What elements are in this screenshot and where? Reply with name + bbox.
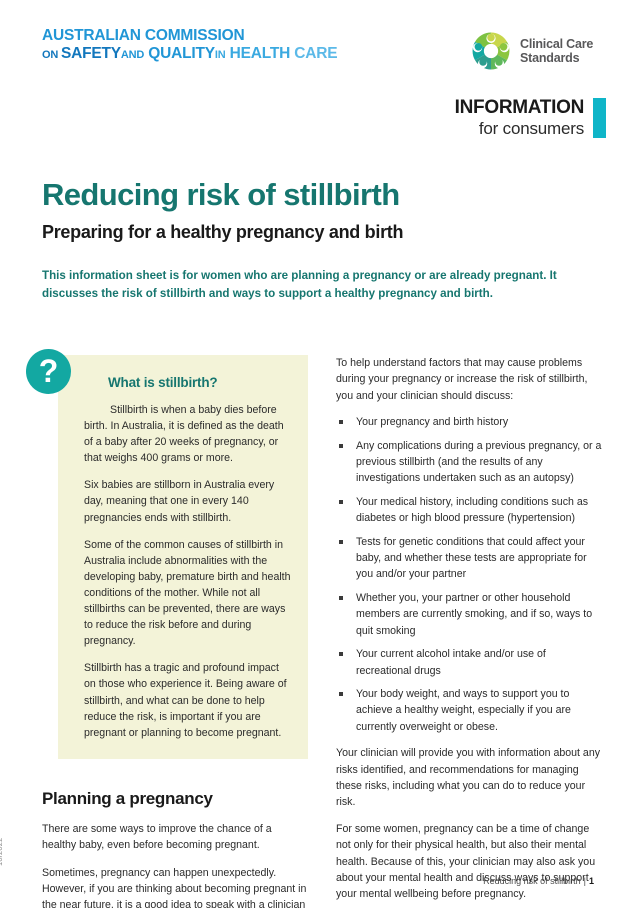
intro-paragraph: This information sheet is for women who … xyxy=(42,267,604,302)
footer-separator: | xyxy=(584,876,586,886)
ccs-wordmark-line2: Standards xyxy=(520,51,593,65)
content-columns: ? What is stillbirth? Stillbirth is when… xyxy=(42,355,602,908)
list-item: Any complications during a previous preg… xyxy=(336,438,602,487)
list-item: Your body weight, and ways to support yo… xyxy=(336,686,602,735)
clinical-care-standards-lockup: Clinical Care Standards xyxy=(470,30,593,72)
list-item-label: Whether you, your partner or other house… xyxy=(356,592,592,637)
clinical-care-standards-ring-icon xyxy=(470,30,512,72)
square-bullet-icon xyxy=(339,652,343,656)
list-item: Your current alcohol intake and/or use o… xyxy=(336,646,602,679)
list-item-label: Your current alcohol intake and/or use o… xyxy=(356,648,546,676)
list-item-label: Your pregnancy and birth history xyxy=(356,416,508,428)
list-item: Tests for genetic conditions that could … xyxy=(336,534,602,583)
list-item-label: Tests for genetic conditions that could … xyxy=(356,536,587,581)
left-column: ? What is stillbirth? Stillbirth is when… xyxy=(42,355,308,908)
acsqhc-logo: AUSTRALIAN COMMISSION ON SAFETYAND QUALI… xyxy=(42,28,337,61)
page-footer: Reducing risk of stillbirth|1 xyxy=(483,876,594,886)
document-page: AUSTRALIAN COMMISSION ON SAFETYAND QUALI… xyxy=(0,0,636,908)
right-column-paragraph: Your clinician will provide you with inf… xyxy=(336,745,602,811)
right-column: To help understand factors that may caus… xyxy=(336,355,602,908)
section-paragraph: Sometimes, pregnancy can happen unexpect… xyxy=(42,865,308,908)
clinical-care-standards-wordmark: Clinical Care Standards xyxy=(520,37,593,65)
side-date-stamp: 10/2022 xyxy=(0,837,4,866)
section-heading-planning-a-pregnancy: Planning a pregnancy xyxy=(42,789,308,809)
right-column-paragraph: For some women, pregnancy can be a time … xyxy=(336,821,602,903)
list-item: Whether you, your partner or other house… xyxy=(336,590,602,639)
question-mark-icon: ? xyxy=(26,349,71,394)
square-bullet-icon xyxy=(339,692,343,696)
page-subtitle: Preparing for a healthy pregnancy and bi… xyxy=(42,222,602,243)
discussion-topics-list: Your pregnancy and birth history Any com… xyxy=(336,414,602,735)
square-bullet-icon xyxy=(339,500,343,504)
callout-paragraph: Some of the common causes of stillbirth … xyxy=(84,537,292,650)
information-badge-line1: INFORMATION xyxy=(455,98,584,118)
square-bullet-icon xyxy=(339,540,343,544)
square-bullet-icon xyxy=(339,444,343,448)
page-title: Reducing risk of stillbirth xyxy=(42,178,602,212)
list-item-label: Your medical history, including conditio… xyxy=(356,496,588,524)
section-paragraph: There are some ways to improve the chanc… xyxy=(42,821,308,854)
information-badge-accent-bar xyxy=(593,98,606,138)
information-badge-text: INFORMATION for consumers xyxy=(455,98,584,138)
list-item: Your medical history, including conditio… xyxy=(336,494,602,527)
callout-paragraph: Stillbirth is when a baby dies before bi… xyxy=(84,402,292,466)
acsqhc-logo-line1: AUSTRALIAN COMMISSION xyxy=(42,28,337,44)
list-item-label: Your body weight, and ways to support yo… xyxy=(356,688,571,733)
page-header: AUSTRALIAN COMMISSION ON SAFETYAND QUALI… xyxy=(0,0,636,150)
information-badge: INFORMATION for consumers xyxy=(455,98,606,138)
list-item-label: Any complications during a previous preg… xyxy=(356,440,601,485)
information-badge-line2: for consumers xyxy=(455,120,584,138)
list-item: Your pregnancy and birth history xyxy=(336,414,602,430)
acsqhc-logo-line2: ON SAFETYAND QUALITYIN HEALTH CARE xyxy=(42,46,337,62)
footer-document-name: Reducing risk of stillbirth xyxy=(483,876,581,886)
callout-title: What is stillbirth? xyxy=(108,375,292,390)
callout-paragraph: Six babies are stillborn in Australia ev… xyxy=(84,477,292,525)
title-area: Reducing risk of stillbirth Preparing fo… xyxy=(42,178,602,302)
callout-paragraph: Stillbirth has a tragic and profound imp… xyxy=(84,660,292,740)
what-is-stillbirth-callout: ? What is stillbirth? Stillbirth is when… xyxy=(58,355,308,759)
discussion-lead-paragraph: To help understand factors that may caus… xyxy=(336,355,602,404)
ccs-wordmark-line1: Clinical Care xyxy=(520,37,593,51)
footer-page-number: 1 xyxy=(589,876,594,886)
square-bullet-icon xyxy=(339,420,343,424)
square-bullet-icon xyxy=(339,596,343,600)
